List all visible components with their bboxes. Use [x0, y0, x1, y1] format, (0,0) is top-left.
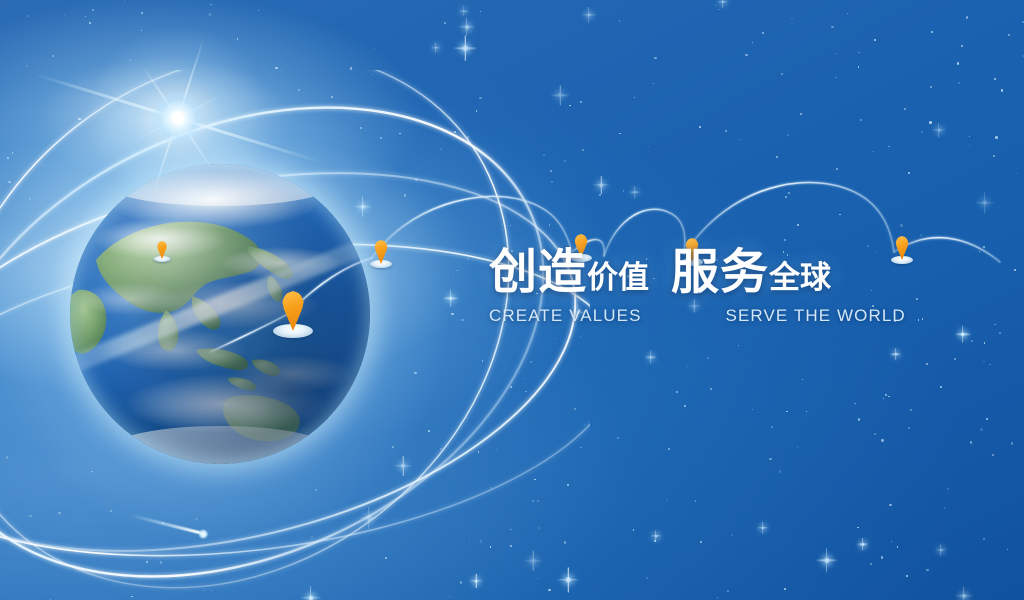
star-sparkle — [431, 43, 441, 53]
star-dot — [999, 332, 1001, 334]
star-sparkle — [954, 586, 973, 600]
star-dot — [204, 590, 205, 591]
star-dot — [480, 540, 483, 543]
star-dot — [870, 563, 872, 565]
star-dot — [684, 405, 686, 407]
star-dot — [769, 458, 772, 461]
star-dot — [8, 181, 10, 183]
star-dot — [646, 577, 648, 579]
star-dot — [900, 224, 902, 226]
star-dot — [146, 561, 148, 563]
star-dot — [141, 30, 142, 31]
star-sparkle — [629, 186, 641, 198]
star-dot — [453, 278, 454, 279]
star-dot — [543, 154, 545, 156]
star-dot — [360, 127, 362, 129]
headline-phrase1-secondary: 价值 — [587, 260, 649, 295]
star-dot — [738, 345, 739, 346]
star-dot — [440, 448, 442, 450]
star-dot — [916, 298, 917, 299]
star-dot — [906, 575, 908, 577]
star-dot — [831, 26, 834, 29]
star-dot — [771, 426, 773, 428]
star-dot — [857, 527, 859, 529]
star-sparkle — [550, 86, 570, 106]
star-dot — [654, 57, 656, 59]
star-dot — [785, 196, 787, 198]
star-dot — [654, 540, 655, 541]
star-dot — [537, 500, 539, 502]
star-dot — [58, 512, 61, 515]
star-dot — [141, 12, 143, 14]
hero-banner: 创造价值服务全球 CREATE VALUES SERVE THE WORLD — [0, 0, 1024, 600]
star-dot — [797, 224, 799, 226]
star-dot — [791, 18, 793, 20]
star-dot — [454, 131, 456, 133]
star-dot — [580, 336, 581, 337]
star-dot — [668, 448, 670, 450]
star-dot — [947, 488, 949, 490]
star-dot — [6, 456, 9, 459]
star-dot — [874, 433, 876, 435]
star-dot — [469, 542, 470, 543]
star-dot — [769, 186, 770, 187]
star-dot — [479, 97, 482, 100]
star-dot — [380, 137, 382, 139]
star-dot — [619, 133, 621, 135]
star-dot — [847, 13, 849, 15]
star-dot — [131, 596, 133, 598]
star-dot — [983, 538, 985, 540]
star-dot — [41, 164, 43, 166]
star-dot — [331, 96, 333, 98]
star-dot — [739, 139, 740, 140]
star-sparkle — [645, 351, 658, 364]
star-dot — [523, 378, 524, 379]
star-dot — [897, 546, 899, 548]
star-dot — [510, 529, 512, 531]
star-dot — [549, 224, 551, 226]
star-dot — [648, 146, 649, 147]
star-dot — [467, 258, 469, 260]
star-dot — [89, 22, 91, 24]
earth-globe — [70, 164, 370, 464]
star-dot — [124, 1, 125, 2]
star-dot — [904, 108, 906, 110]
star-dot — [762, 32, 765, 35]
star-dot — [440, 148, 442, 150]
star-dot — [599, 194, 602, 197]
star-dot — [619, 20, 621, 22]
subtitle-right: SERVE THE WORLD — [726, 306, 906, 326]
star-dot — [555, 338, 556, 339]
star-dot — [891, 541, 892, 542]
star-dot — [784, 239, 786, 241]
star-dot — [779, 470, 781, 472]
star-dot — [7, 157, 9, 159]
star-sparkle — [523, 550, 544, 571]
star-sparkle — [581, 7, 597, 23]
star-dot — [806, 411, 807, 412]
star-dot — [490, 487, 492, 489]
star-dot — [802, 379, 803, 380]
star-dot — [580, 447, 582, 449]
star-dot — [944, 507, 946, 509]
star-dot — [464, 45, 465, 46]
star-dot — [311, 536, 313, 538]
star-dot — [550, 170, 552, 172]
star-dot — [582, 149, 584, 151]
star-dot — [839, 214, 841, 216]
star-dot — [490, 546, 492, 548]
star-dot — [538, 527, 540, 529]
star-dot — [569, 105, 570, 106]
star-dot — [457, 270, 458, 271]
star-dot — [860, 119, 862, 121]
star-dot — [399, 133, 401, 135]
star-dot — [480, 11, 482, 13]
star-sparkle — [593, 176, 611, 194]
page-title: 创造价值服务全球 — [489, 249, 909, 297]
star-dot — [707, 357, 709, 359]
star-dot — [1022, 21, 1024, 23]
star-dot — [867, 245, 869, 247]
star-dot — [717, 597, 718, 598]
star-dot — [970, 441, 973, 444]
star-sparkle — [932, 123, 947, 138]
star-dot — [776, 156, 778, 158]
star-dot — [428, 430, 430, 432]
star-dot — [210, 4, 211, 5]
star-dot — [918, 319, 919, 320]
star-dot — [130, 59, 132, 61]
star-dot — [567, 484, 569, 486]
star-sparkle — [299, 586, 323, 600]
star-dot — [787, 134, 789, 136]
star-dot — [634, 97, 636, 99]
headline-phrase2-primary: 服务 — [671, 246, 769, 299]
star-dot — [872, 151, 874, 153]
star-sparkle — [358, 507, 380, 529]
star-dot — [237, 38, 239, 40]
star-dot — [989, 364, 991, 366]
star-dot — [993, 155, 995, 157]
star-dot — [510, 545, 512, 547]
star-sparkle — [650, 531, 661, 542]
star-dot — [992, 454, 994, 456]
star-dot — [883, 398, 884, 399]
star-dot — [584, 424, 585, 425]
star-dot — [969, 136, 970, 137]
star-dot — [415, 178, 417, 180]
star-sparkle — [556, 567, 581, 592]
star-dot — [617, 437, 619, 439]
headline-phrase2-secondary: 全球 — [769, 260, 831, 295]
star-dot — [1014, 269, 1016, 271]
star-dot — [27, 15, 29, 17]
star-dot — [26, 65, 28, 67]
star-dot — [279, 70, 281, 72]
star-dot — [788, 192, 790, 194]
star-dot — [800, 113, 802, 115]
star-sparkle — [458, 18, 476, 36]
star-dot — [731, 534, 733, 536]
star-sparkle — [974, 192, 995, 213]
star-dot — [525, 391, 527, 393]
star-sparkle — [459, 6, 469, 16]
star-dot — [881, 439, 883, 441]
star-dot — [930, 86, 932, 88]
star-dot — [653, 83, 654, 84]
star-dot — [836, 168, 838, 170]
star-dot — [854, 403, 856, 405]
star-sparkle — [453, 36, 478, 61]
star-dot — [551, 181, 553, 183]
star-dot — [12, 152, 13, 153]
star-dot — [700, 541, 702, 543]
star-dot — [530, 361, 532, 363]
star-dot — [984, 342, 986, 344]
star-dot — [623, 190, 625, 192]
star-dot — [922, 318, 923, 319]
star-dot — [971, 340, 973, 342]
star-dot — [931, 31, 933, 33]
star-dot — [961, 45, 962, 46]
star-dot — [496, 449, 498, 451]
star-dot — [92, 9, 94, 11]
star-dot — [29, 515, 31, 517]
star-dot — [980, 428, 983, 431]
star-dot — [1016, 173, 1017, 174]
star-dot — [926, 569, 929, 572]
star-dot — [781, 73, 783, 75]
star-dot — [786, 411, 788, 413]
star-sparkle — [935, 544, 946, 555]
star-dot — [1011, 442, 1014, 445]
star-dot — [275, 67, 277, 69]
star-sparkle — [469, 574, 483, 588]
star-dot — [510, 386, 512, 388]
star-sparkle — [955, 326, 972, 343]
star-dot — [461, 319, 464, 322]
star-dot — [444, 22, 446, 24]
star-dot — [858, 66, 859, 67]
star-dot — [564, 541, 566, 543]
star-dot — [888, 396, 890, 398]
star-dot — [52, 55, 55, 58]
star-dot — [986, 418, 988, 420]
star-dot — [554, 75, 555, 76]
star-dot — [920, 234, 923, 237]
star-dot — [822, 406, 823, 407]
star-dot — [1001, 89, 1003, 91]
star-dot — [372, 74, 373, 75]
star-dot — [929, 121, 932, 124]
star-sparkle — [757, 522, 769, 534]
star-dot — [710, 388, 712, 390]
star-dot — [699, 126, 701, 128]
star-dot — [350, 67, 352, 69]
star-dot — [835, 77, 837, 79]
star-dot — [969, 145, 970, 146]
star-dot — [983, 361, 984, 362]
star-dot — [983, 246, 986, 249]
star-dot — [460, 581, 463, 584]
star-dot — [510, 225, 511, 226]
star-dot — [676, 391, 678, 393]
star-dot — [666, 499, 668, 501]
star-dot — [715, 5, 716, 6]
star-dot — [921, 131, 923, 133]
star-dot — [718, 9, 720, 11]
star-dot — [835, 53, 837, 55]
globe-sphere — [70, 164, 370, 464]
star-dot — [784, 588, 786, 590]
star-sparkle — [717, 0, 729, 8]
page-subtitle: CREATE VALUES SERVE THE WORLD — [489, 306, 909, 326]
star-dot — [940, 386, 942, 388]
star-dot — [687, 366, 688, 367]
star-dot — [78, 118, 80, 120]
star-dot — [858, 52, 860, 54]
star-dot — [727, 590, 729, 592]
star-dot — [476, 110, 478, 112]
star-dot — [451, 313, 453, 315]
star-dot — [958, 82, 961, 85]
star-dot — [467, 136, 470, 139]
star-dot — [797, 447, 798, 448]
star-dot — [478, 451, 480, 453]
star-dot — [889, 504, 892, 507]
star-dot — [725, 130, 727, 132]
star-dot — [209, 13, 211, 15]
star-dot — [954, 358, 956, 360]
star-dot — [885, 394, 886, 395]
star-dot — [908, 427, 911, 430]
star-dot — [580, 101, 582, 103]
star-dot — [85, 16, 86, 17]
star-dot — [482, 360, 484, 362]
star-dot — [564, 160, 566, 162]
star-dot — [858, 418, 861, 421]
star-dot — [374, 48, 375, 49]
star-dot — [534, 479, 535, 480]
star-dot — [548, 589, 551, 592]
star-dot — [115, 98, 117, 100]
star-dot — [910, 409, 913, 412]
star-dot — [467, 418, 468, 419]
star-dot — [1008, 34, 1010, 36]
star-dot — [574, 408, 576, 410]
star-dot — [995, 136, 998, 139]
star-dot — [994, 324, 995, 325]
star-dot — [258, 10, 260, 12]
star-dot — [532, 500, 534, 502]
star-dot — [633, 529, 635, 531]
subtitle-left: CREATE VALUES — [489, 306, 642, 326]
star-dot — [926, 363, 928, 365]
star-sparkle — [815, 549, 838, 572]
star-dot — [752, 42, 753, 43]
star-dot — [385, 557, 387, 559]
star-dot — [745, 54, 747, 56]
star-dot — [537, 578, 538, 579]
star-dot — [966, 16, 969, 19]
star-dot — [449, 596, 450, 597]
star-dot — [298, 89, 300, 91]
star-dot — [211, 590, 212, 591]
star-dot — [695, 500, 696, 501]
star-dot — [957, 62, 960, 65]
star-dot — [908, 172, 910, 174]
star-dot — [888, 146, 890, 148]
star-dot — [752, 409, 753, 410]
star-dot — [979, 251, 980, 252]
hero-copy: 创造价值服务全球 CREATE VALUES SERVE THE WORLD — [489, 249, 909, 326]
star-sparkle — [857, 539, 869, 551]
star-dot — [994, 78, 996, 80]
star-dot — [874, 39, 876, 41]
star-dot — [64, 15, 66, 17]
headline-phrase1-primary: 创造 — [489, 246, 587, 299]
star-dot — [235, 567, 236, 568]
globe-rim-light — [70, 164, 370, 464]
star-dot — [301, 545, 302, 546]
star-dot — [160, 561, 162, 563]
star-dot — [1007, 549, 1008, 550]
star-sparkle — [890, 348, 902, 360]
star-dot — [881, 556, 883, 558]
